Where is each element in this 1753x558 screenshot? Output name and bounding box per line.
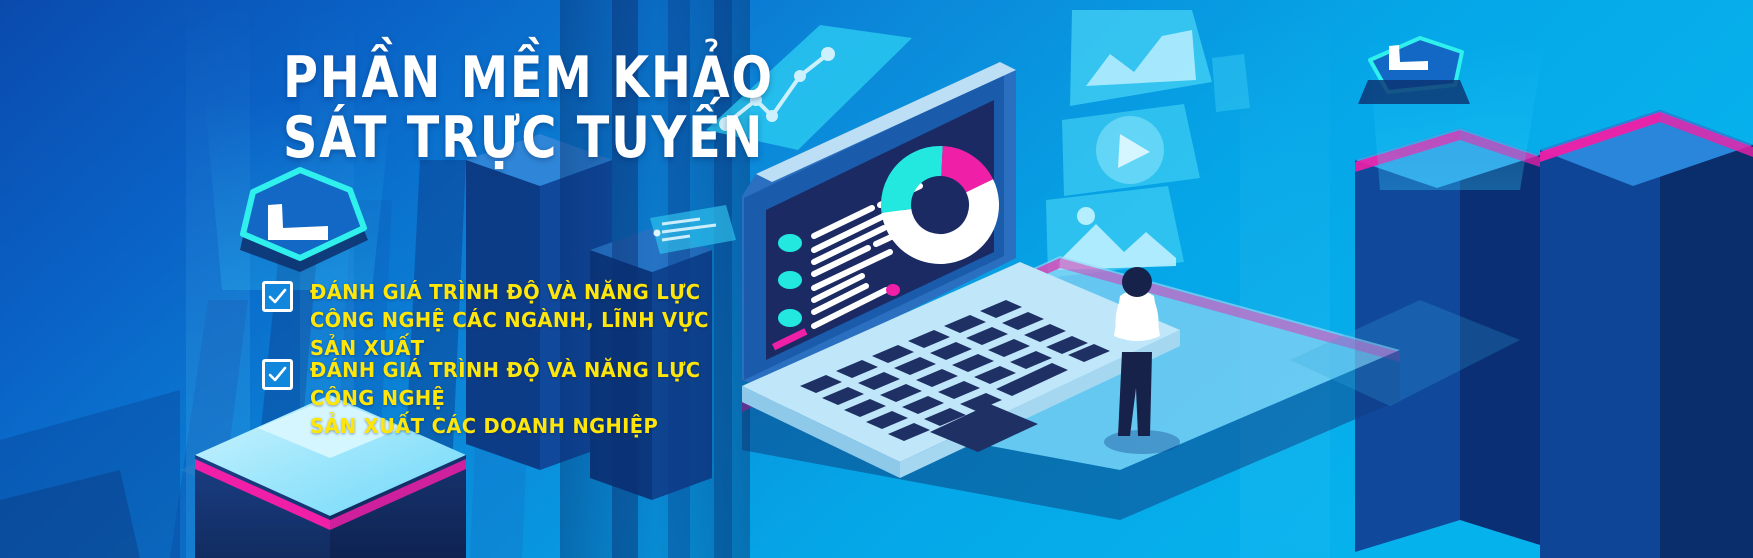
shield-badge-left: [240, 170, 368, 272]
screen-list: [778, 186, 920, 327]
mini-card: [1212, 54, 1250, 112]
person-legs: [1118, 352, 1152, 436]
shield-badge-right: [1358, 38, 1470, 104]
image-card: [1046, 186, 1184, 278]
banner-root: PHẦN MỀM KHẢO SÁT TRỰC TUYẾN ĐÁNH GIÁ TR…: [0, 0, 1753, 558]
checkbox-checked-icon[interactable]: [262, 359, 293, 390]
cyan-dot: [778, 234, 802, 252]
feature-item-2-label: ĐÁNH GIÁ TRÌNH ĐỘ VÀ NĂNG LỰC CÔNG NGHỆ …: [310, 356, 768, 440]
title-line-1: PHẦN MỀM KHẢO: [283, 48, 804, 108]
donut-slice-b: [881, 146, 999, 264]
feature-item-1: ĐÁNH GIÁ TRÌNH ĐỘ VÀ NĂNG LỰC CÔNG NGHỆ …: [262, 278, 782, 362]
play-circle-icon: [1096, 116, 1164, 184]
check-icon: [268, 287, 287, 306]
area-chart-card: [1070, 10, 1212, 106]
photo-icon: [1058, 224, 1176, 270]
keyboard: [800, 300, 1110, 441]
bullet-dot: [654, 230, 661, 237]
text-card: [650, 205, 736, 254]
laptop-base: [742, 262, 1180, 462]
trackpad: [930, 404, 1038, 452]
donut-chart: [881, 146, 999, 264]
title-line-2: SÁT TRỰC TUYẾN: [283, 108, 804, 168]
iso-floor-center: [742, 256, 1400, 520]
page-title: PHẦN MỀM KHẢO SÁT TRỰC TUYẾN: [283, 48, 843, 168]
shield-mark-left: [268, 204, 328, 240]
donut-slice-c: [881, 146, 999, 264]
person-head: [1122, 267, 1152, 297]
checkbox-checked-icon[interactable]: [262, 281, 293, 312]
person-shirt: [1114, 290, 1160, 341]
shield-mark-right: [1389, 45, 1428, 70]
media-play-card: [1062, 104, 1200, 196]
iso-tower-group-right: [1540, 110, 1753, 558]
play-triangle-icon: [1118, 134, 1150, 168]
standing-person: [1104, 267, 1180, 454]
feature-item-1-label: ĐÁNH GIÁ TRÌNH ĐỘ VÀ NĂNG LỰC CÔNG NGHỆ …: [310, 278, 758, 362]
check-icon: [268, 365, 287, 384]
feature-item-2: ĐÁNH GIÁ TRÌNH ĐỘ VÀ NĂNG LỰC CÔNG NGHỆ …: [262, 356, 792, 440]
donut-slice-a: [881, 146, 999, 264]
iso-tower-mid-right: [1355, 40, 1545, 552]
